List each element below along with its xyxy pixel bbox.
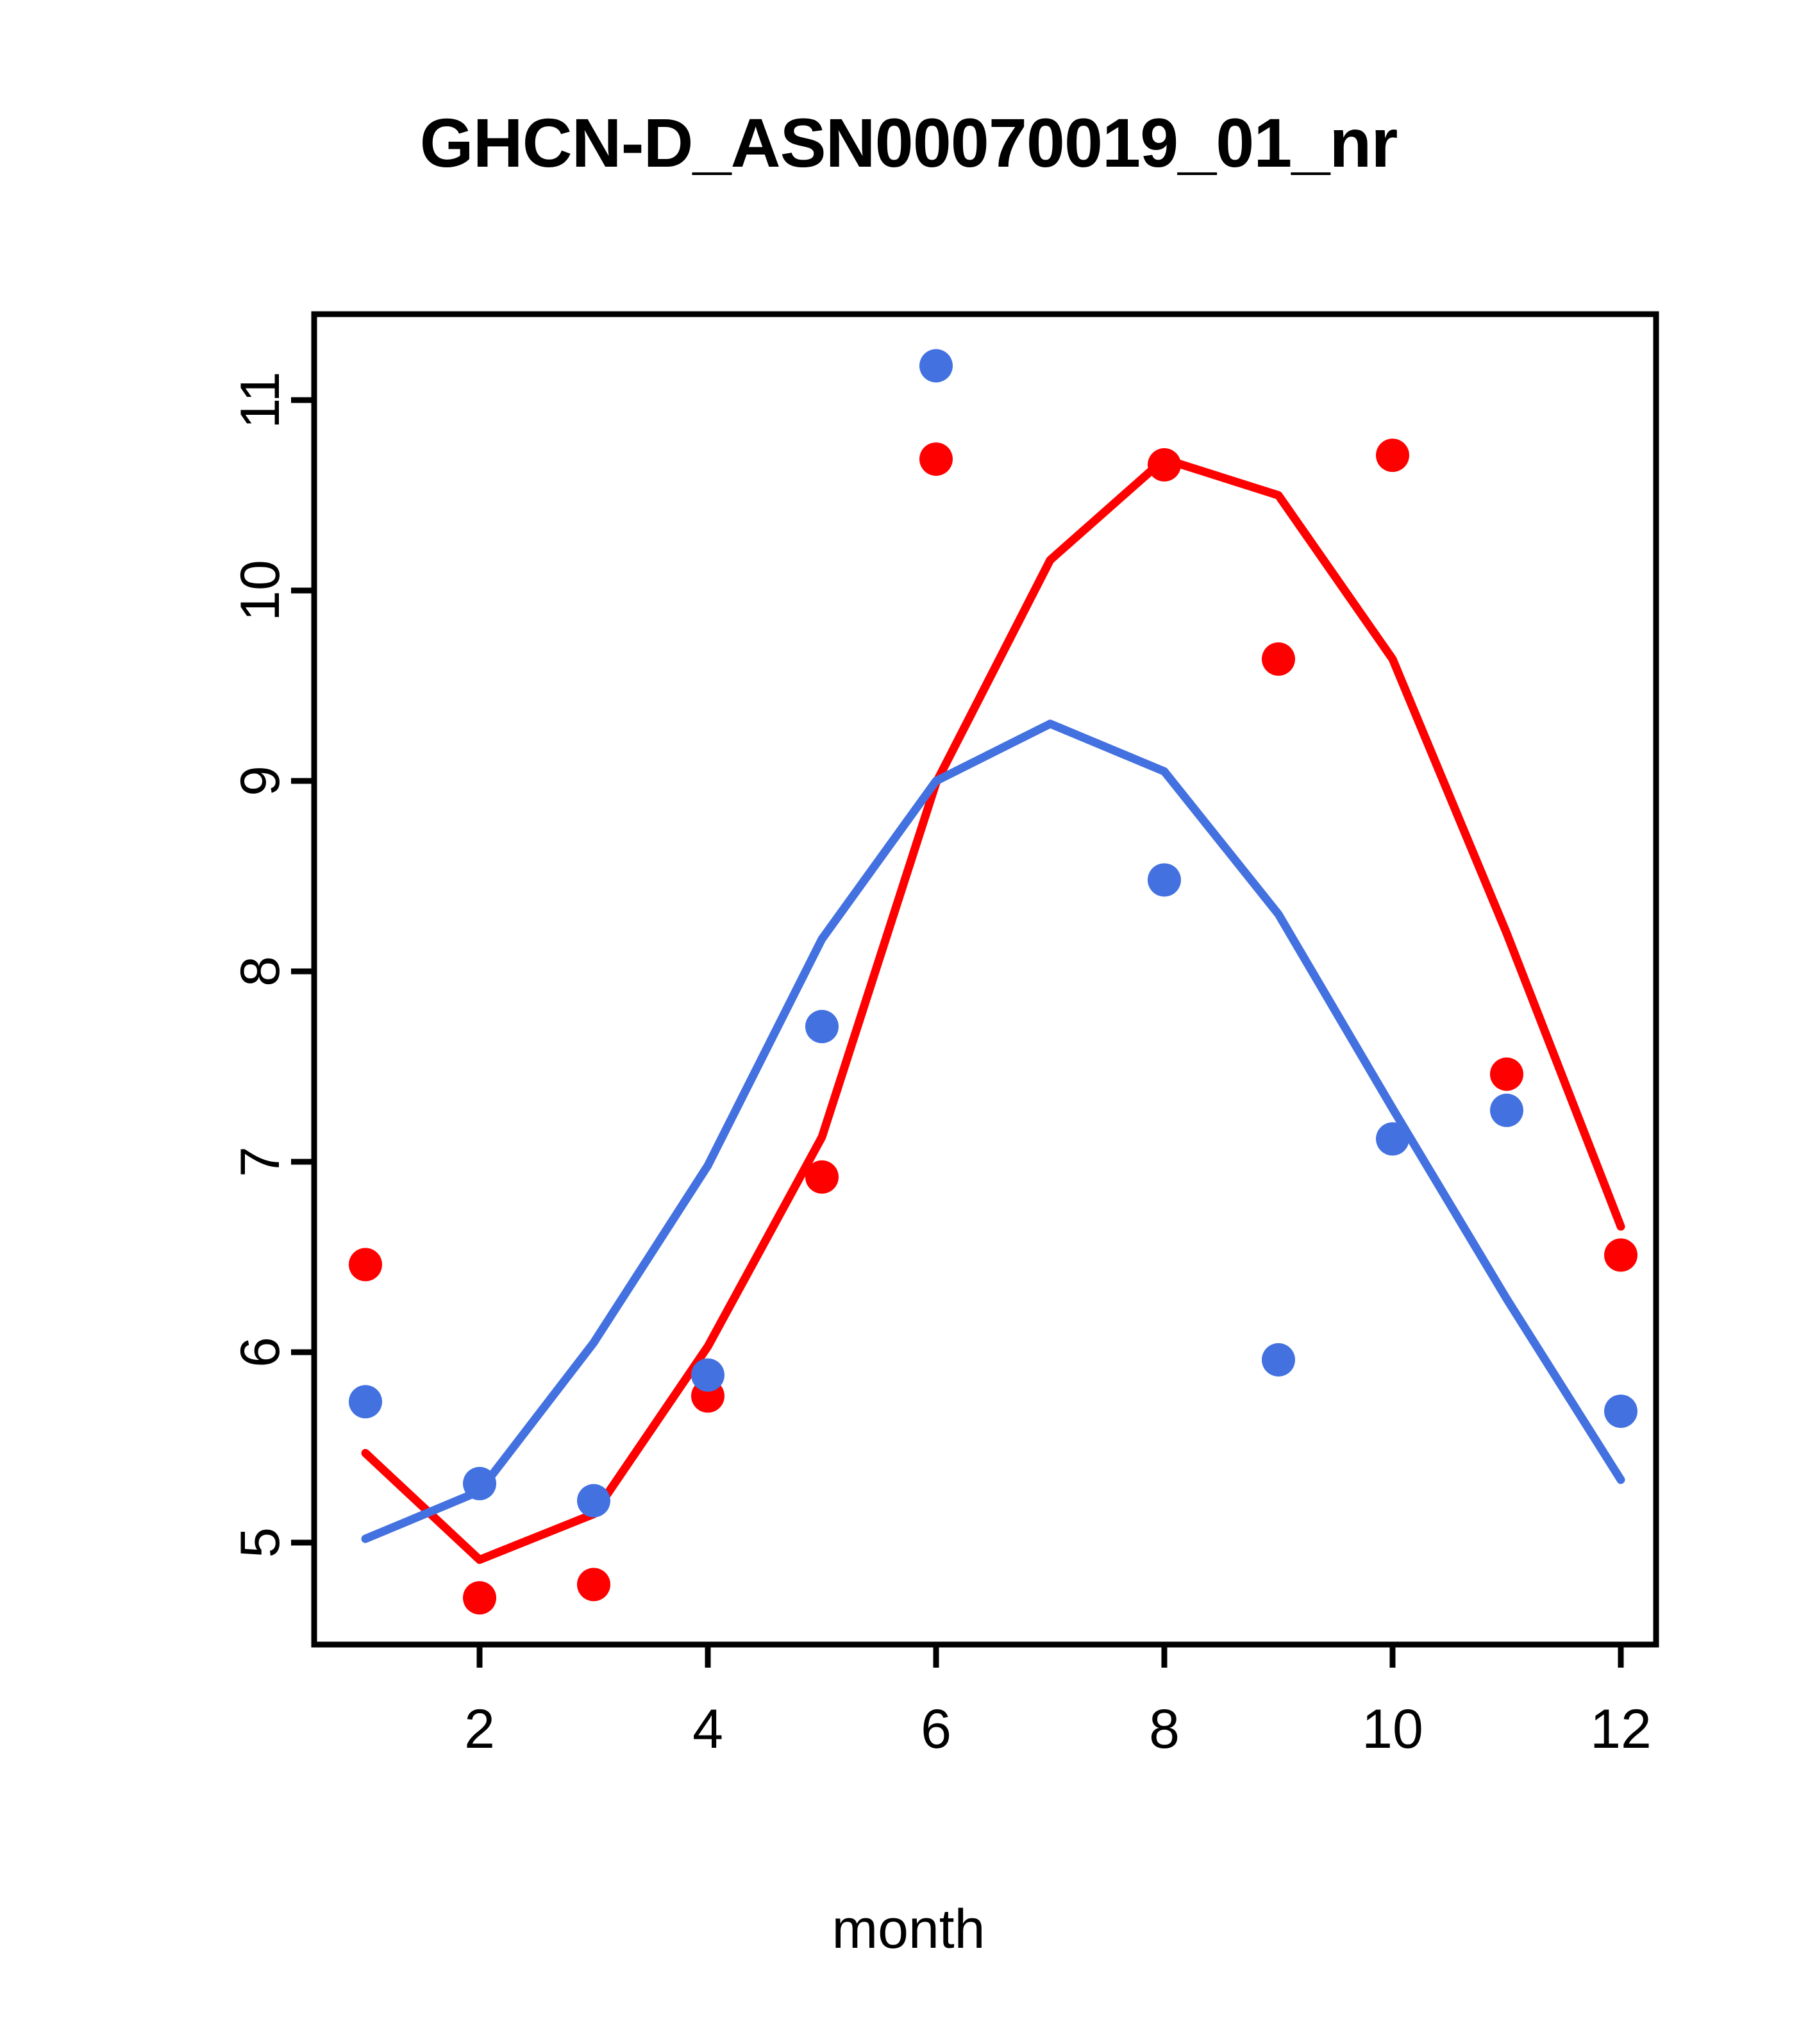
data-point-blue-points: [1148, 863, 1181, 896]
data-point-red-points: [919, 442, 953, 476]
series-line-blue-line: [365, 724, 1621, 1539]
data-point-red-points: [1148, 448, 1181, 482]
data-point-red-points: [1376, 439, 1409, 472]
x-axis-label: month: [0, 1898, 1817, 1961]
y-tick-labels: 567891011: [230, 371, 291, 1558]
y-tick-label: 6: [230, 1337, 291, 1368]
data-point-blue-points: [1376, 1122, 1409, 1155]
data-point-red-points: [349, 1248, 382, 1281]
chart-page: GHCN-D_ASN00070019_01_nr 24681012 567891…: [0, 0, 1817, 2044]
data-point-red-points: [1490, 1057, 1523, 1091]
data-point-blue-points: [1604, 1395, 1637, 1428]
x-tick-label: 4: [692, 1698, 723, 1760]
y-tick-label: 10: [230, 560, 291, 621]
x-tick-label: 12: [1590, 1698, 1652, 1760]
x-tick-label: 10: [1362, 1698, 1423, 1760]
data-point-blue-points: [577, 1484, 610, 1518]
y-tick-label: 7: [230, 1146, 291, 1177]
x-tick-labels: 24681012: [464, 1698, 1652, 1760]
y-tick-label: 11: [230, 371, 291, 428]
y-tick-label: 9: [230, 766, 291, 796]
data-point-blue-points: [463, 1467, 496, 1500]
data-point-blue-points: [805, 1010, 839, 1043]
y-tick-label: 8: [230, 956, 291, 987]
data-point-red-points: [463, 1581, 496, 1614]
x-tick-label: 8: [1149, 1698, 1180, 1760]
data-point-red-points: [577, 1568, 610, 1601]
data-point-blue-points: [691, 1359, 724, 1392]
data-point-blue-points: [919, 349, 953, 383]
data-point-blue-points: [1490, 1094, 1523, 1127]
data-point-red-points: [1604, 1239, 1637, 1272]
data-point-blue-points: [1262, 1343, 1295, 1377]
scatter-line-chart: 24681012 567891011: [0, 0, 1817, 2044]
data-series-layer: [349, 349, 1637, 1615]
x-tick-label: 6: [921, 1698, 951, 1760]
data-point-blue-points: [349, 1385, 382, 1418]
y-tick-label: 5: [230, 1527, 291, 1558]
x-tick-label: 2: [464, 1698, 495, 1760]
data-point-red-points: [1262, 642, 1295, 676]
data-point-red-points: [805, 1160, 839, 1194]
